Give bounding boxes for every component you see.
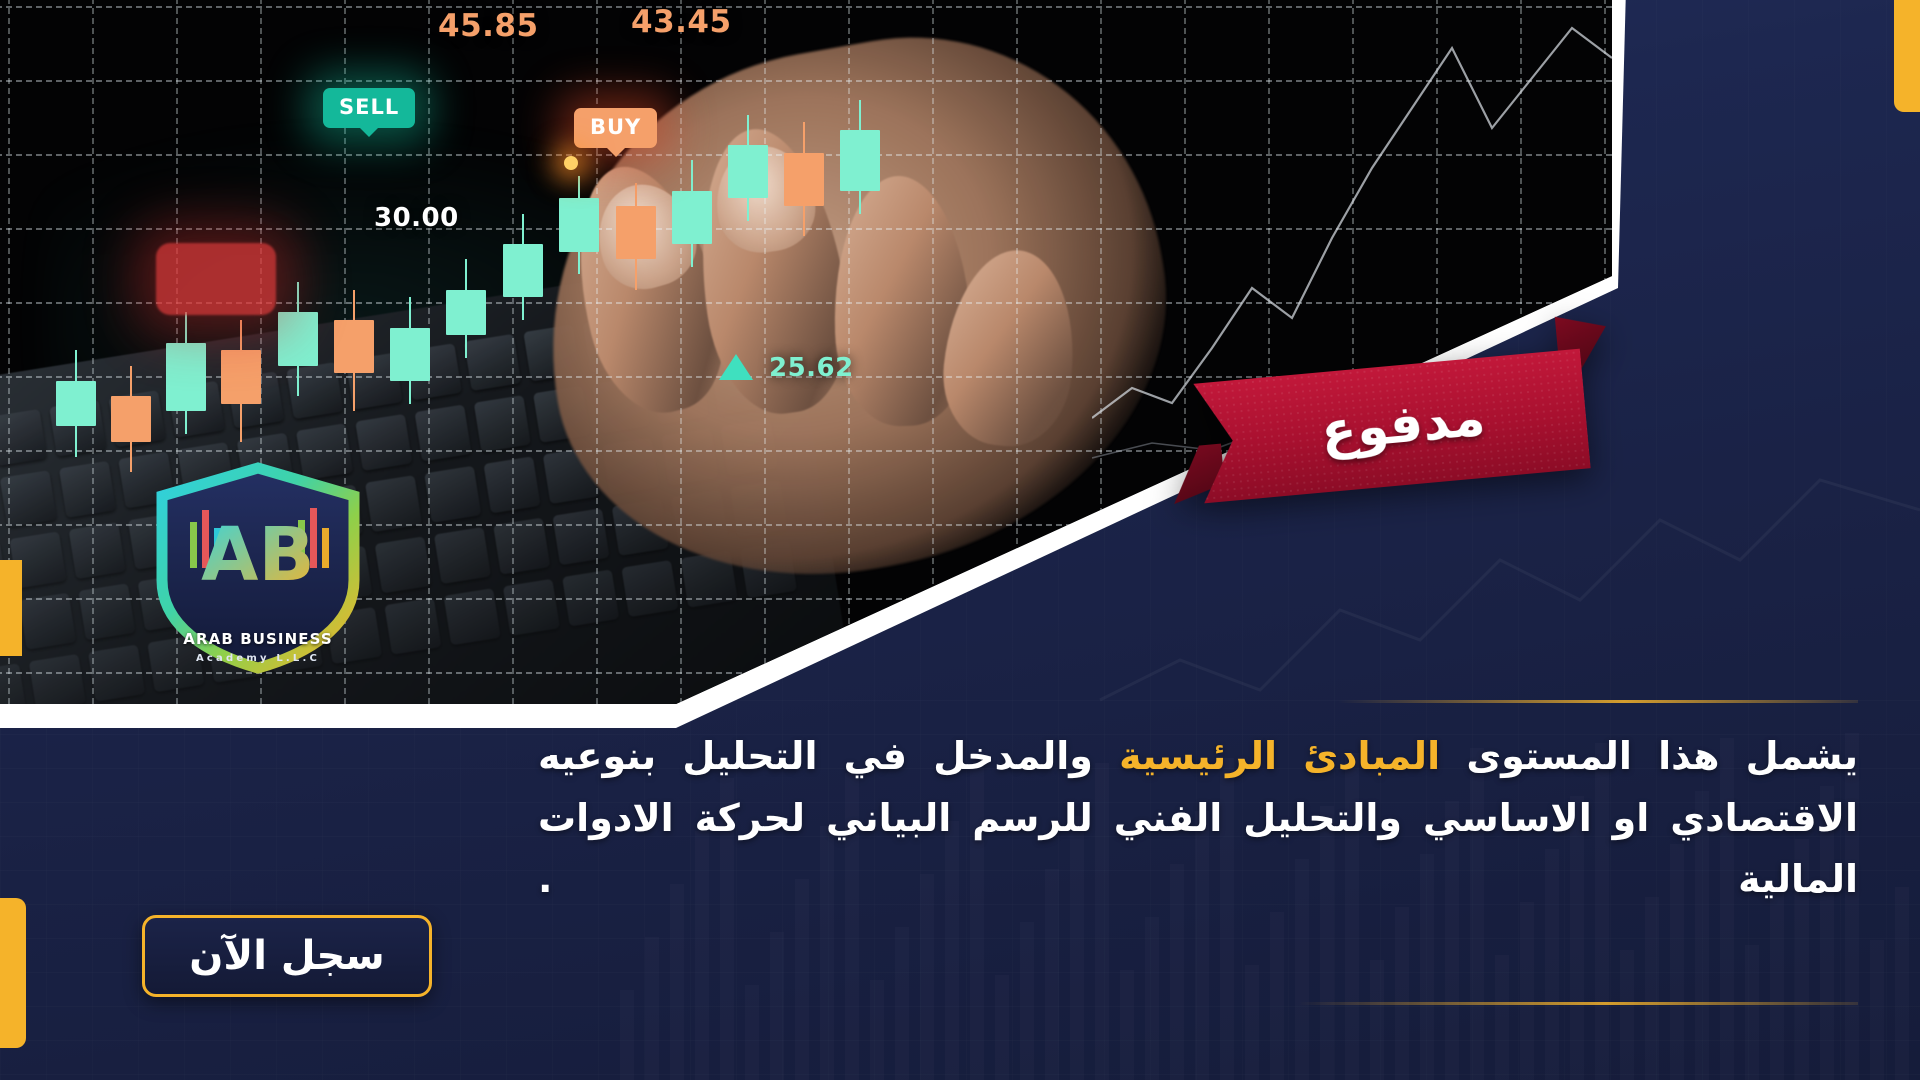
candlestick <box>503 214 543 320</box>
watermark-gridline <box>0 1040 1920 1041</box>
watermark-bar <box>745 985 759 1080</box>
copy-highlight: المبادئ الرئيسية <box>1119 734 1440 778</box>
candlestick <box>56 350 96 456</box>
register-now-button[interactable]: سجل الآن <box>142 915 432 997</box>
accent-bottom-left <box>0 898 26 1048</box>
svg-text:AB: AB <box>201 512 315 598</box>
watermark-bar <box>1745 945 1759 1080</box>
candlestick <box>784 122 824 236</box>
watermark-bar <box>1020 922 1034 1080</box>
candlestick <box>728 115 768 221</box>
watermark-bar <box>670 884 684 1080</box>
watermark-bar <box>645 937 659 1080</box>
sell-tag: SELL <box>323 88 415 128</box>
watermark-bar <box>895 927 909 1080</box>
watermark-gridline-v <box>1840 0 1841 1080</box>
buy-tag: BUY <box>574 108 657 148</box>
watermark-bar <box>770 932 784 1080</box>
candlestick-body <box>390 328 430 381</box>
grid-line-vertical <box>680 0 682 704</box>
watermark-bar <box>1495 955 1509 1080</box>
candlestick-body <box>111 396 151 442</box>
candlestick <box>616 183 656 289</box>
candlestick-body <box>503 244 543 297</box>
candlestick <box>446 259 486 358</box>
candlestick <box>672 160 712 266</box>
watermark-gridline <box>0 1074 1920 1075</box>
candlestick-body <box>728 145 768 198</box>
watermark-gridline-v <box>1702 0 1703 1080</box>
price-label-4585: 45.85 <box>438 8 539 44</box>
copy-prefix: يشمل هذا المستوى <box>1440 734 1858 778</box>
candlestick <box>559 176 599 275</box>
glow-blob-red <box>156 243 276 315</box>
accent-left-mid <box>0 560 22 656</box>
candlestick-body <box>559 198 599 251</box>
watermark-bar <box>1870 940 1884 1080</box>
watermark-bar <box>1370 960 1384 1080</box>
candlestick <box>334 290 374 412</box>
watermark-bar <box>995 975 1009 1080</box>
candlestick <box>840 100 880 214</box>
candlestick-body <box>840 130 880 191</box>
watermark-gridline-v <box>1656 0 1657 1080</box>
grid-line-vertical <box>512 0 514 704</box>
price-label-2562: 25.62 <box>769 353 854 383</box>
candlestick <box>278 282 318 396</box>
watermark-bar <box>1645 897 1659 1080</box>
glow-dot-orange <box>564 156 578 170</box>
watermark-bar <box>1245 965 1259 1080</box>
candlestick-body <box>672 191 712 244</box>
watermark-gridline <box>0 1006 1920 1007</box>
candlestick <box>166 312 206 434</box>
candlestick <box>111 366 151 472</box>
price-label-4345: 43.45 <box>631 4 732 40</box>
grid-line-vertical <box>764 0 766 704</box>
grid-line-vertical <box>932 0 934 704</box>
watermark-gridline-v <box>1886 0 1887 1080</box>
candlestick-body <box>334 320 374 373</box>
grid-line-vertical <box>1016 0 1018 704</box>
watermark-bar <box>1770 892 1784 1080</box>
candlestick-body <box>56 381 96 427</box>
watermark-bar <box>1270 912 1284 1080</box>
up-arrow-icon <box>719 354 753 380</box>
watermark-gridline-v <box>1794 0 1795 1080</box>
watermark-gridline-v <box>1748 0 1749 1080</box>
gold-rule-bottom <box>1298 1002 1858 1005</box>
candlestick <box>221 320 261 442</box>
candlestick-body <box>278 312 318 365</box>
candlestick <box>390 297 430 403</box>
candlestick-body <box>221 350 261 403</box>
candlestick-body <box>446 290 486 336</box>
watermark-bar <box>1520 902 1534 1080</box>
logo-brand: ARAB BUSINESS <box>148 630 368 648</box>
watermark-bar <box>1120 970 1134 1080</box>
watermark-bar <box>1145 917 1159 1080</box>
body-copy: يشمل هذا المستوى المبادئ الرئيسية والمدخ… <box>538 726 1858 911</box>
logo-subtitle: Academy L.L.C <box>148 653 368 664</box>
candlestick-body <box>166 343 206 411</box>
price-label-3000: 30.00 <box>374 203 459 233</box>
candlestick-body <box>616 206 656 259</box>
candlestick-body <box>784 153 824 206</box>
logo: AB ARAB BUSINESS Academy L.L.C <box>148 462 368 674</box>
gold-rule-top <box>1338 700 1858 703</box>
watermark-bar <box>620 990 634 1080</box>
watermark-bar <box>1395 907 1409 1080</box>
watermark-bar <box>1895 887 1909 1080</box>
grid-line-vertical <box>596 0 598 704</box>
accent-top-right <box>1894 0 1920 112</box>
promo-banner: 45.85 43.45 30.00 25.62 SELL BUY مدفوع <box>0 0 1920 1080</box>
watermark-bar <box>1620 950 1634 1080</box>
watermark-bar <box>870 980 884 1080</box>
